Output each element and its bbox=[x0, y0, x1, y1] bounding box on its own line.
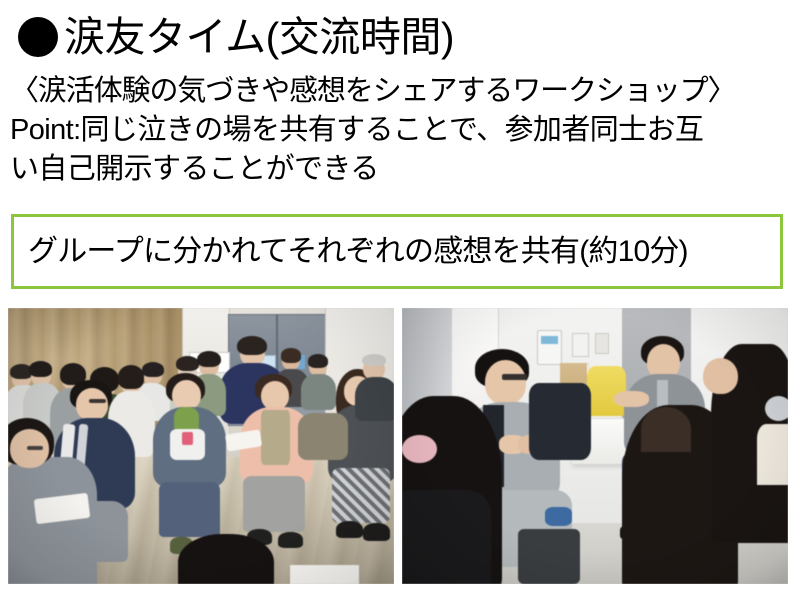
seminar-room-group-photo bbox=[8, 308, 394, 584]
page-title: 涙友タイム(交流時間) bbox=[18, 8, 454, 66]
body-text-block: 〈涙活体験の気づきや感想をシェアするワークショップ〉 Point:同じ泣きの場を… bbox=[10, 72, 800, 189]
small-group-discussion-photo bbox=[402, 308, 788, 584]
body-line-point-1: Point:同じ泣きの場を共有することで、参加者同士お互 bbox=[10, 111, 800, 150]
page-title-text: 涙友タイム(交流時間) bbox=[64, 17, 454, 58]
callout-text: グループに分かれてそれぞれの感想を共有(約10分) bbox=[14, 237, 688, 267]
body-line-point-2: い自己開示することができる bbox=[10, 150, 800, 189]
callout-box: グループに分かれてそれぞれの感想を共有(約10分) bbox=[11, 214, 783, 289]
bullet-dot-icon bbox=[18, 17, 58, 57]
slide-canvas: 涙友タイム(交流時間) 〈涙活体験の気づきや感想をシェアするワークショップ〉 P… bbox=[0, 0, 800, 591]
body-line-subtitle: 〈涙活体験の気づきや感想をシェアするワークショップ〉 bbox=[10, 72, 800, 111]
photo-row bbox=[0, 308, 800, 584]
